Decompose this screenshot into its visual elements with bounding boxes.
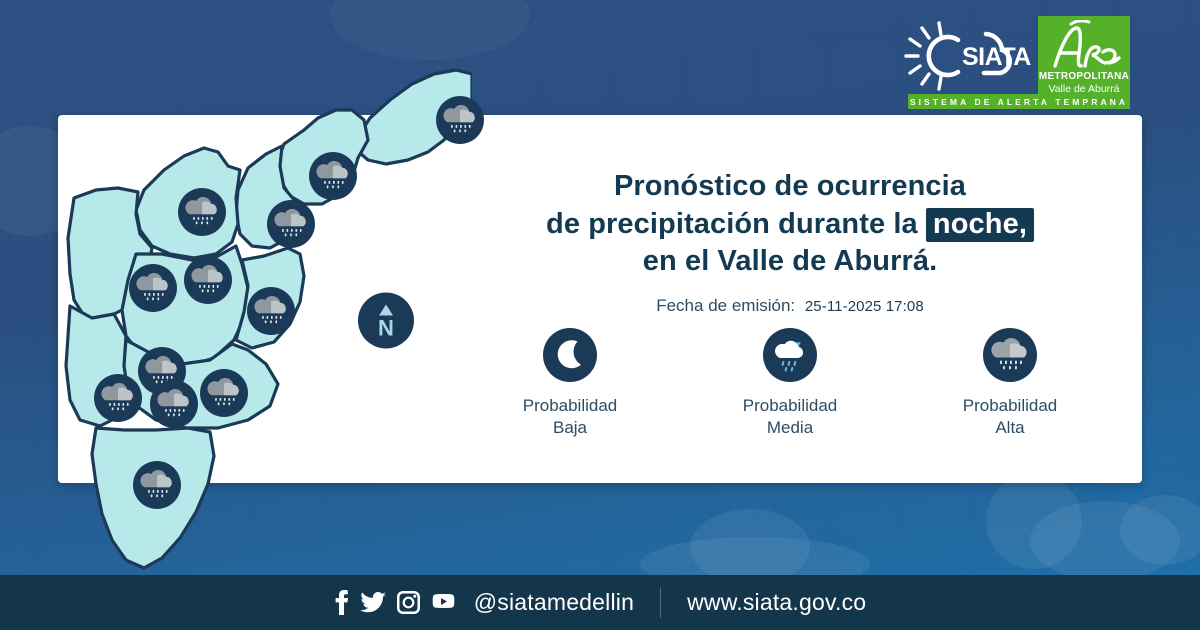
compass-label: N [378,316,394,341]
area-metropolitana-text: METROPOLITANA [1039,72,1129,83]
decorative-cloud-icon [1030,501,1180,575]
map-marker-envigado[interactable] [94,374,142,422]
decorative-cloud-icon [986,473,1082,569]
instagram-icon[interactable] [397,591,420,614]
tagline-text: SISTEMA DE ALERTA TEMPRANA [910,97,1128,107]
headline-line-3: en el Valle de Aburrá. [460,243,1120,281]
website-url[interactable]: www.siata.gov.co [687,589,866,616]
area-metropolitana-logo: METROPOLITANA Valle de Aburrá [1038,16,1130,104]
footer-bar: @siatamedellin www.siata.gov.co [0,575,1200,630]
youtube-icon[interactable] [431,594,456,612]
map-marker-barbosa[interactable] [436,96,484,144]
decorative-cloud-icon [690,509,810,575]
map-marker-girardota[interactable] [309,152,357,200]
siata-logo-text: SIATA [962,43,1031,71]
map-marker-san-pedro[interactable] [178,188,226,236]
moon-icon [485,328,655,382]
legend-label-baja: Probabilidad Baja [485,395,655,440]
area-valle-text: Valle de Aburrá [1048,83,1119,95]
footer-divider [660,588,661,618]
map-marker-bello[interactable] [129,264,177,312]
cloud-rain-icon [925,328,1095,382]
headline-line-2: de precipitación durante la noche, [460,206,1120,244]
legend-label-media: Probabilidad Media [705,395,875,440]
tagline-bar: SISTEMA DE ALERTA TEMPRANA [908,94,1130,109]
decorative-cloud-icon [640,537,870,575]
map-marker-medellin-norte[interactable] [184,256,232,304]
logo-block: SIATA METROPOLITANA Valle de Aburrá SIST… [900,16,1130,112]
probability-legend: Probabilidad Baja Probabilidad Media [460,328,1120,440]
area-script-icon [1045,20,1123,72]
cloud-moon-rain-icon [705,328,875,382]
social-handle[interactable]: @siatamedellin [474,589,634,616]
legend-label-alta: Probabilidad Alta [925,395,1095,440]
issue-date-line: Fecha de emisión: 25-11-2025 17:08 [460,296,1120,316]
map-marker-caldas[interactable] [133,461,181,509]
legend-item-media[interactable]: Probabilidad Media [705,328,875,440]
legend-item-alta[interactable]: Probabilidad Alta [925,328,1095,440]
facebook-icon[interactable] [334,590,349,615]
page-title: Pronóstico de ocurrencia de precipitació… [460,168,1120,281]
twitter-icon[interactable] [360,592,386,614]
headline-line-2-text: de precipitación durante la [546,208,918,240]
map-marker-la-estrella[interactable] [200,369,248,417]
headline-highlight-noche: noche, [926,208,1034,242]
headline-line-1: Pronóstico de ocurrencia [460,168,1120,206]
forecast-text-block: Pronóstico de ocurrencia de precipitació… [460,168,1120,316]
map-marker-medellin[interactable] [247,287,295,335]
siata-logo: SIATA [900,20,1040,92]
north-compass-icon: N [358,293,414,354]
valle-de-aburra-map[interactable]: N [52,48,472,578]
issue-date-label: Fecha de emisión: [656,296,795,315]
map-marker-sabaneta[interactable] [150,380,198,428]
decorative-cloud-icon [1120,495,1200,565]
map-marker-copacabana[interactable] [267,200,315,248]
legend-item-baja[interactable]: Probabilidad Baja [485,328,655,440]
social-icons [334,590,456,615]
issue-date-value: 25-11-2025 17:08 [805,298,924,315]
